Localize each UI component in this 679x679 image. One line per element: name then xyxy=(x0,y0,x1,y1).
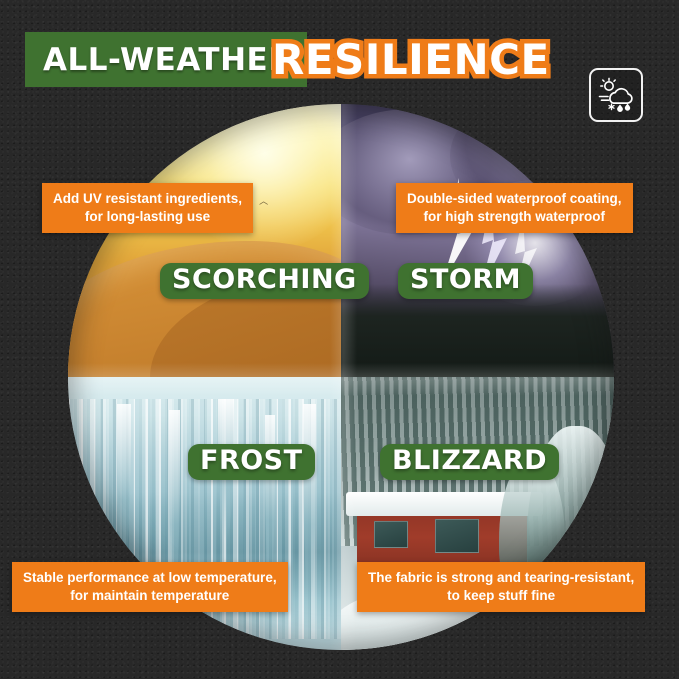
quadrant-label-blizzard: BLIZZARD xyxy=(380,444,559,480)
callout-line-1: Add UV resistant ingredients, xyxy=(53,190,242,208)
quadrant-storm xyxy=(341,104,614,377)
callout-frost: Stable performance at low temperature, f… xyxy=(12,562,288,612)
header-title-accent-wrap: RESILIENCE xyxy=(272,28,550,91)
callout-line-2: to keep stuff fine xyxy=(368,587,634,605)
header-title-primary: ALL-WEATHER xyxy=(43,42,293,78)
header-banner: ALL-WEATHER RESILIENCE xyxy=(0,28,679,90)
callout-blizzard: The fabric is strong and tearing-resista… xyxy=(357,562,645,612)
header-title-accent: RESILIENCE xyxy=(272,39,550,81)
callout-line-2: for long-lasting use xyxy=(53,208,242,226)
callout-line-1: Stable performance at low temperature, xyxy=(23,569,277,587)
callout-line-2: for maintain temperature xyxy=(23,587,277,605)
quadrant-scorching: ︿ ︿ xyxy=(68,104,341,377)
callout-scorching: Add UV resistant ingredients, for long-l… xyxy=(42,183,253,233)
quadrant-label-frost: FROST xyxy=(188,444,315,480)
callout-line-1: The fabric is strong and tearing-resista… xyxy=(368,569,634,587)
callout-line-1: Double-sided waterproof coating, xyxy=(407,190,622,208)
bird-icon: ︿ xyxy=(259,197,268,206)
header-title-primary-bar: ALL-WEATHER xyxy=(25,32,307,87)
cabin-window xyxy=(374,521,408,549)
quadrant-label-storm: STORM xyxy=(398,263,533,299)
quadrant-label-scorching: SCORCHING xyxy=(160,263,369,299)
infographic-canvas: ALL-WEATHER RESILIENCE xyxy=(0,0,679,679)
callout-line-2: for high strength waterproof xyxy=(407,208,622,226)
callout-storm: Double-sided waterproof coating, for hig… xyxy=(396,183,633,233)
cabin-window xyxy=(435,519,479,553)
